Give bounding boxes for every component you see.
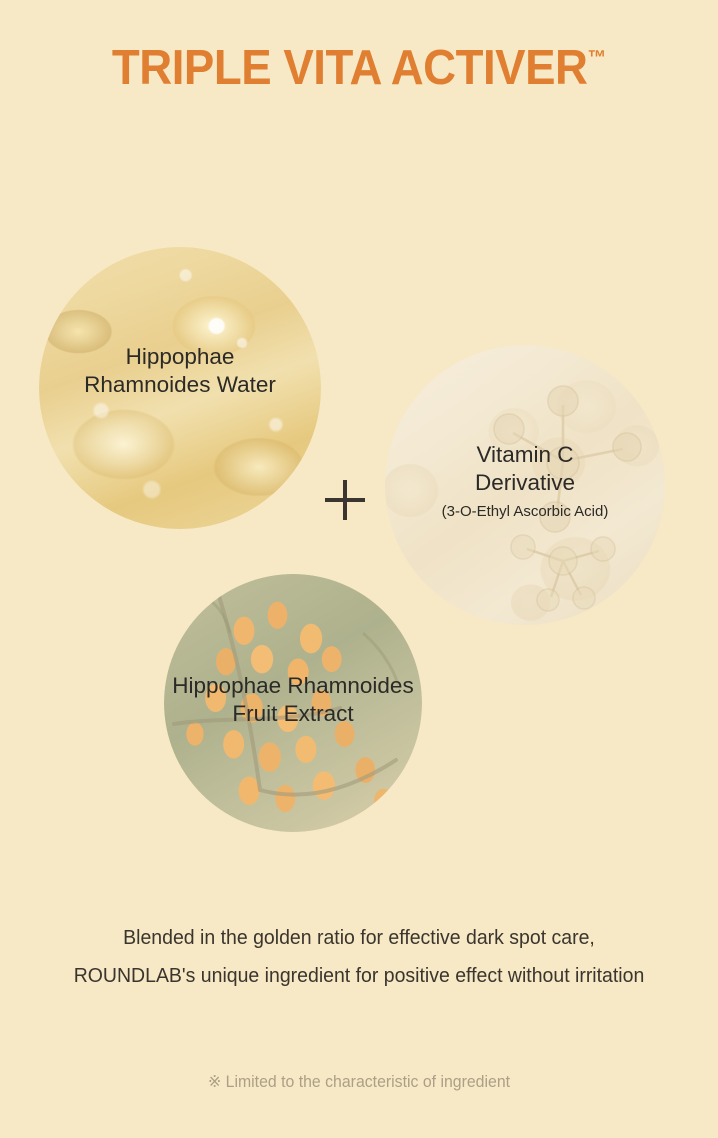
ingredient-label-line-1: Vitamin C [385, 441, 665, 469]
ingredient-label-line-2: Rhamnoides Water [39, 371, 321, 399]
page-title-text: TRIPLE VITA ACTIVER [112, 41, 588, 95]
ingredient-label-fruit-extract: Hippophae Rhamnoides Fruit Extract [164, 672, 422, 729]
ingredient-circle-hippophae-water: Hippophae Rhamnoides Water [39, 247, 321, 529]
ingredient-subtitle-vitamin-c: (3-O-Ethyl Ascorbic Acid) [385, 503, 665, 520]
ingredient-circle-vitamin-c: Vitamin C Derivative (3-O-Ethyl Ascorbic… [385, 345, 665, 625]
ingredient-label-line-2: Fruit Extract [164, 700, 422, 728]
page-title: TRIPLE VITA ACTIVER™ [25, 40, 693, 96]
ingredient-label-line-2: Derivative [385, 469, 665, 497]
description-line-1: Blended in the golden ratio for effectiv… [18, 919, 700, 957]
ingredient-label-line-1: Hippophae [39, 343, 321, 371]
ingredient-circle-fruit-extract: Hippophae Rhamnoides Fruit Extract [164, 574, 422, 832]
ingredient-label-vitamin-c: Vitamin C Derivative [385, 441, 665, 498]
plus-sign-icon [325, 480, 365, 520]
trademark-symbol: ™ [587, 47, 606, 69]
infographic-page: TRIPLE VITA ACTIVER™ Hippophae Rhamnoide… [0, 0, 718, 1138]
ingredient-label-hippophae-water: Hippophae Rhamnoides Water [39, 343, 321, 400]
ingredient-label-line-1: Hippophae Rhamnoides [164, 672, 422, 700]
footnote-text: ※ Limited to the characteristic of ingre… [14, 1072, 703, 1092]
description-line-2: ROUNDLAB's unique ingredient for positiv… [18, 957, 700, 995]
